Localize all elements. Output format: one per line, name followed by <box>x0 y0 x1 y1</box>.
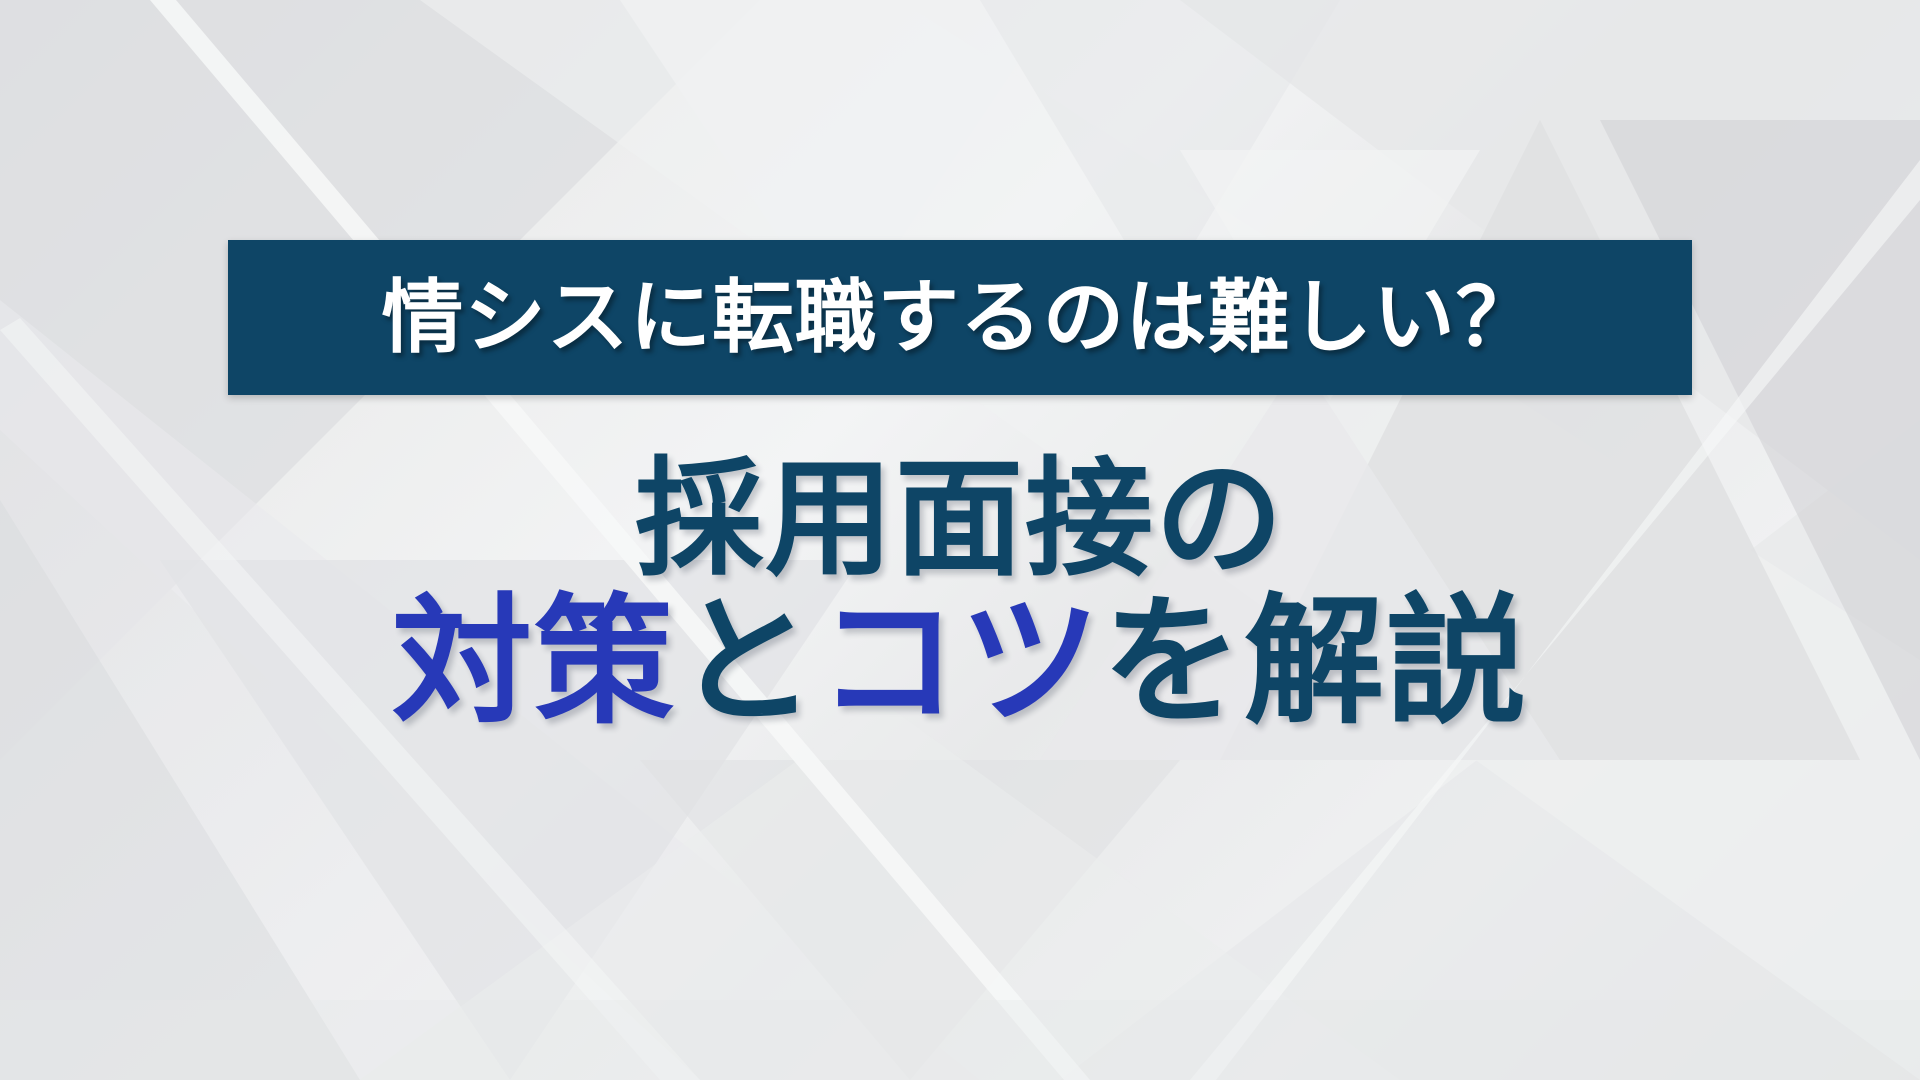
headline-block: 採用面接の 対策とコツを解説 <box>0 455 1920 734</box>
banner-box: 情シスに転職するのは難しい？ <box>228 240 1692 395</box>
thumbnail-canvas: 情シスに転職するのは難しい？ 採用面接の 対策とコツを解説 <box>0 0 1920 1080</box>
headline-segment-taisaku: 対策 <box>392 581 676 744</box>
banner-title: 情シスに転職するのは難しい？ <box>382 278 1539 358</box>
headline-line-1: 採用面接の <box>0 455 1920 586</box>
headline-segment-to: と <box>676 581 818 744</box>
headline-segment-kotsu: コツ <box>818 581 1102 744</box>
headline-line-2: 対策とコツを解説 <box>0 592 1920 735</box>
headline-segment-wokaisetsu: を解説 <box>1102 581 1528 744</box>
